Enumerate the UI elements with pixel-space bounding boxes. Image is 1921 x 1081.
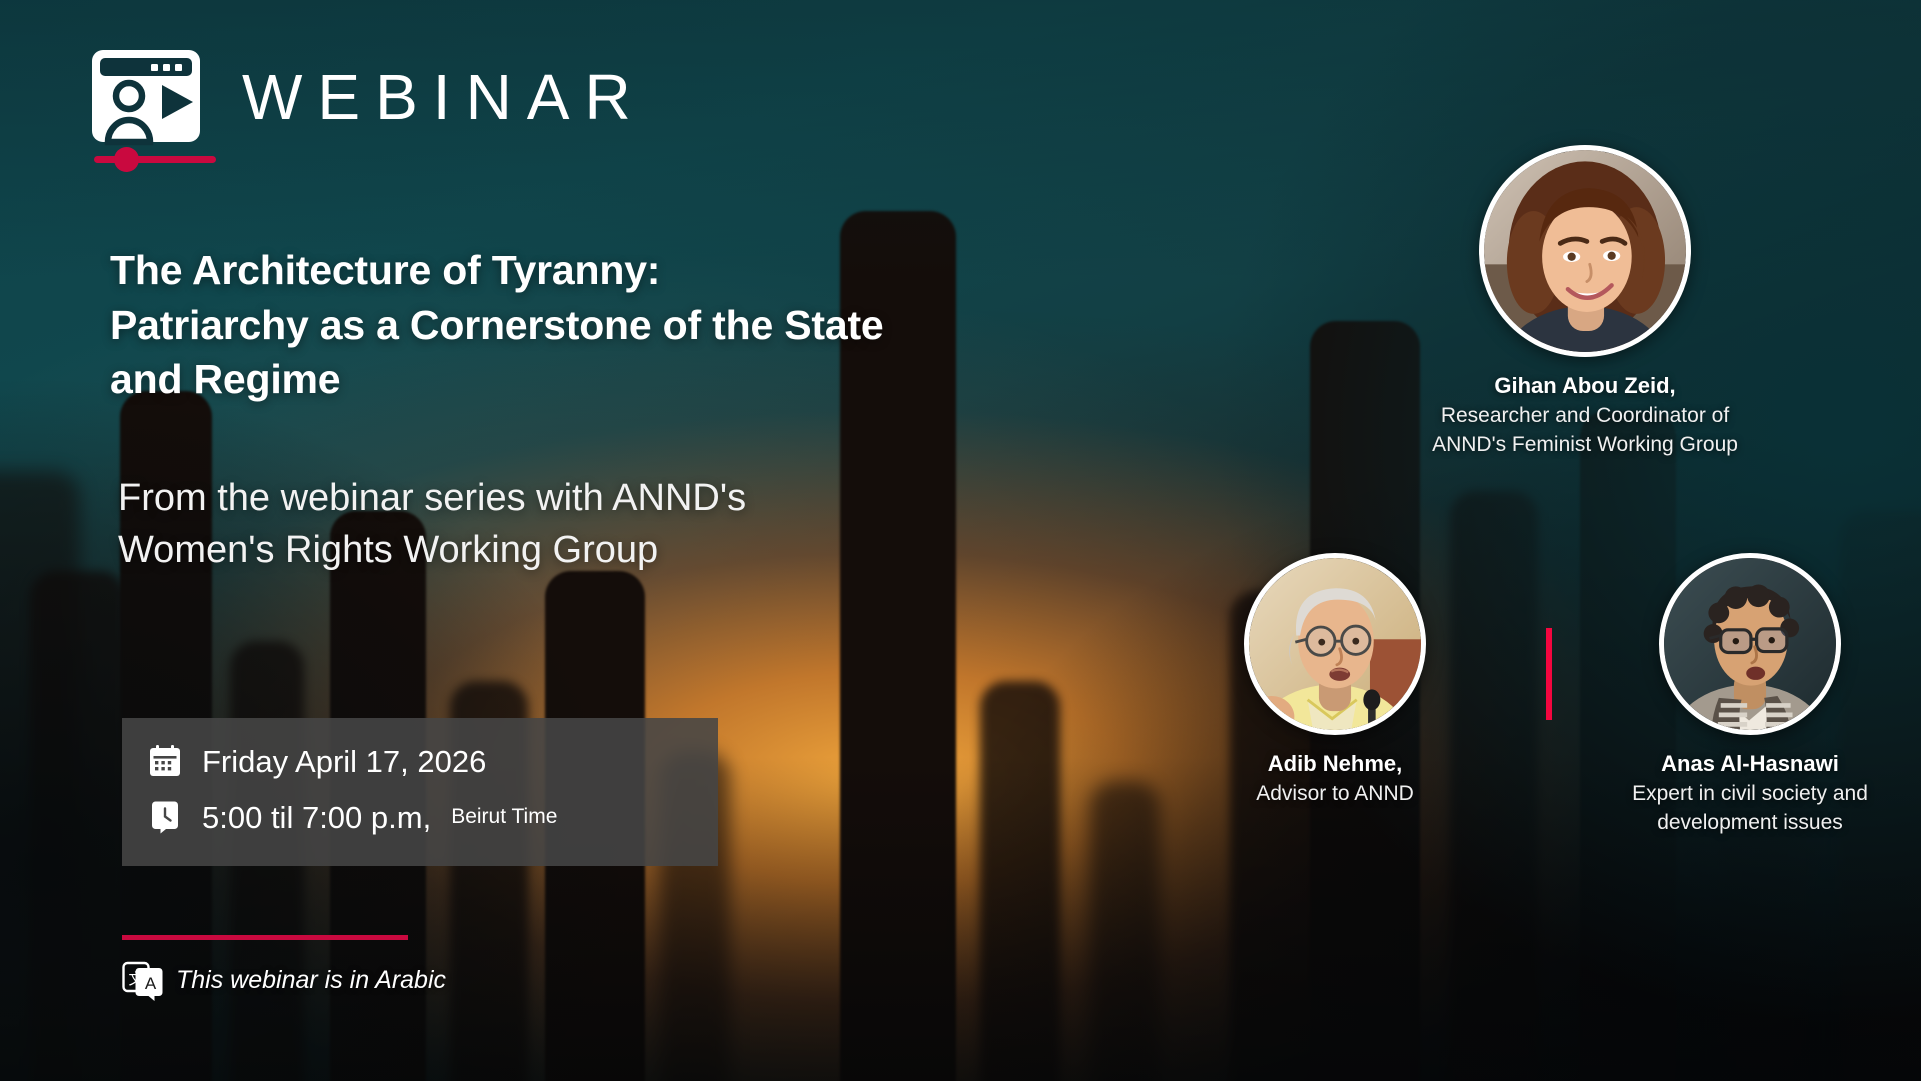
- event-date-row: Friday April 17, 2026: [148, 744, 718, 778]
- event-time: 5:00 til 7:00 p.m,: [202, 802, 431, 833]
- wordmark-webinar: WEBINAR: [242, 65, 646, 129]
- speaker-role-line-2: ANND's Feminist Working Group: [1420, 430, 1750, 459]
- speaker-role-line-1: Researcher and Coordinator of: [1420, 401, 1750, 430]
- event-details-box: Friday April 17, 2026 5:00 til 7:00 p.m,…: [122, 718, 718, 866]
- poster-canvas: WEBINAR The Architecture of Tyranny: Pat…: [0, 0, 1921, 1081]
- speaker-name: Adib Nehme,: [1185, 749, 1485, 779]
- svg-text:A: A: [145, 974, 157, 993]
- clock-icon: [148, 800, 182, 834]
- logo-progress-knob: [114, 147, 139, 172]
- language-note-text: This webinar is in Arabic: [176, 966, 446, 995]
- subtitle-line-1: From the webinar series with ANND's: [118, 473, 998, 525]
- webinar-series-subtitle: From the webinar series with ANND's Wome…: [118, 473, 998, 576]
- title-line-2: Patriarchy as a Cornerstone of the State: [110, 298, 1010, 353]
- title-line-1: The Architecture of Tyranny:: [110, 243, 1010, 298]
- event-timezone: Beirut Time: [451, 805, 557, 829]
- speaker-role-line-2: development issues: [1600, 808, 1900, 837]
- subtitle-line-2: Women's Rights Working Group: [118, 525, 998, 577]
- speaker-role: Expert in civil society and development …: [1600, 779, 1900, 838]
- portrait-anas-al-hasnawi: [1659, 553, 1841, 735]
- portrait-adib-nehme: [1244, 553, 1426, 735]
- speaker-name: Anas Al-Hasnawi: [1600, 749, 1900, 779]
- speaker-divider: [1546, 628, 1552, 720]
- title-line-3: and Regime: [110, 352, 1010, 407]
- speaker-card-gihan-abou-zeid: Gihan Abou Zeid, Researcher and Coordina…: [1420, 145, 1750, 459]
- webinar-title: The Architecture of Tyranny: Patriarchy …: [110, 243, 1010, 407]
- speaker-role-line-1: Advisor to ANND: [1185, 779, 1485, 808]
- event-time-row: 5:00 til 7:00 p.m, Beirut Time: [148, 800, 718, 834]
- speaker-card-anas-al-hasnawi: Anas Al-Hasnawi Expert in civil society …: [1600, 553, 1900, 837]
- logo-progress-bar: [94, 156, 216, 163]
- portrait-gihan-abou-zeid: [1479, 145, 1691, 357]
- webinar-browser-person-play-icon: [90, 48, 202, 146]
- speaker-role: Advisor to ANND: [1185, 779, 1485, 808]
- speaker-role: Researcher and Coordinator of ANND's Fem…: [1420, 401, 1750, 460]
- speaker-card-adib-nehme: Adib Nehme, Advisor to ANND: [1185, 553, 1485, 808]
- speaker-role-line-1: Expert in civil society and: [1600, 779, 1900, 808]
- accent-divider-line: [122, 935, 408, 940]
- language-note: 文 A This webinar is in Arabic: [122, 958, 446, 1002]
- translate-icon: 文 A: [122, 958, 164, 1002]
- calendar-icon: [148, 744, 182, 778]
- speaker-name: Gihan Abou Zeid,: [1420, 371, 1750, 401]
- webinar-logo: WEBINAR: [90, 48, 646, 146]
- event-date: Friday April 17, 2026: [202, 746, 486, 777]
